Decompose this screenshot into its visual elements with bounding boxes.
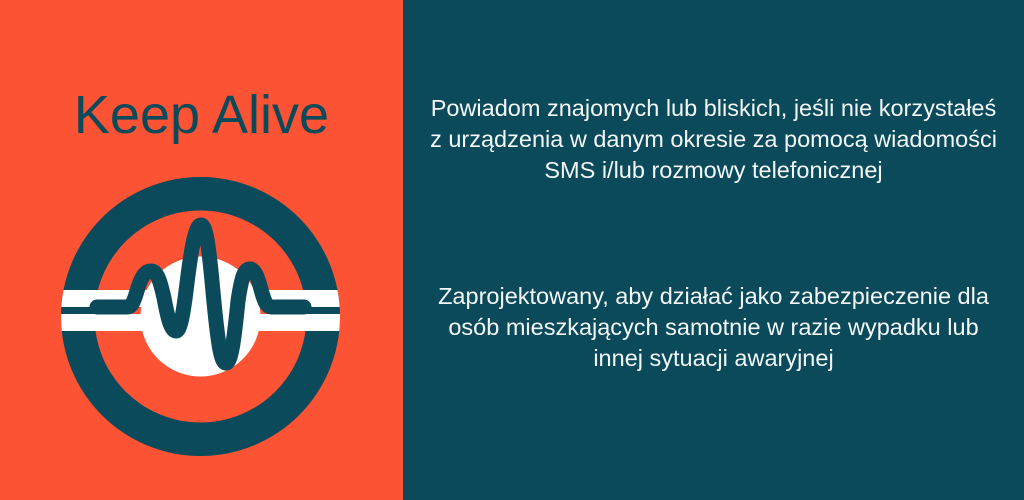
app-title: Keep Alive bbox=[0, 86, 403, 144]
feature-description-1: Powiadom znajomych lub bliskich, jeśli n… bbox=[430, 93, 997, 186]
brand-panel: Keep Alive bbox=[0, 0, 403, 500]
feature-description-2: Zaprojektowany, aby działać jako zabezpi… bbox=[430, 281, 997, 374]
description-panel: Powiadom znajomych lub bliskich, jeśli n… bbox=[403, 0, 1024, 500]
pulse-waveform-circle-icon bbox=[61, 177, 340, 456]
app-store-feature-banner: Keep Alive bbox=[0, 0, 1024, 500]
